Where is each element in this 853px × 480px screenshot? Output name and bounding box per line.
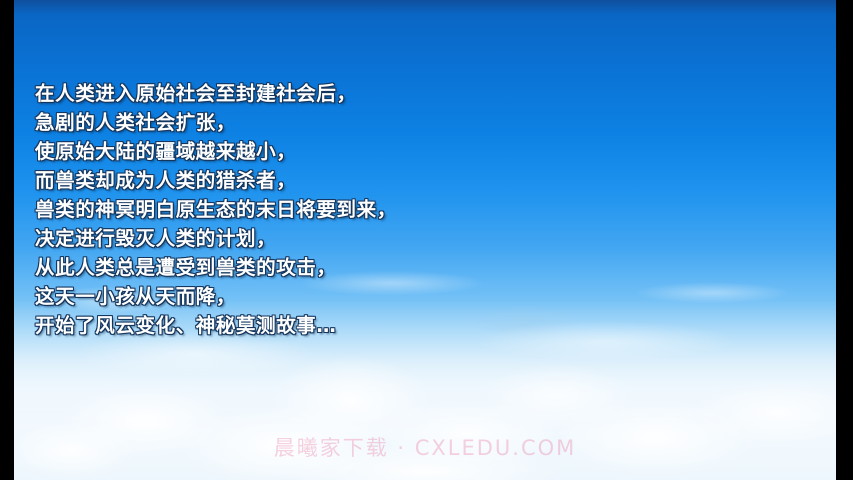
narration-line-1: 在人类进入原始社会至封建社会后， bbox=[35, 79, 675, 108]
narration-text-block: 在人类进入原始社会至封建社会后， 急剧的人类社会扩张， 使原始大陆的疆域越来越小… bbox=[35, 79, 675, 340]
narration-line-5: 兽类的神冥明白原生态的末日将要到来， bbox=[35, 195, 675, 224]
narration-line-7: 从此人类总是遭受到兽类的攻击， bbox=[35, 253, 675, 282]
narration-line-9: 开始了风云变化、神秘莫测故事… bbox=[35, 311, 675, 340]
video-stage[interactable]: 在人类进入原始社会至封建社会后， 急剧的人类社会扩张， 使原始大陆的疆域越来越小… bbox=[14, 0, 836, 480]
letterbox-bar-left bbox=[0, 0, 14, 480]
narration-line-2: 急剧的人类社会扩张， bbox=[35, 108, 675, 137]
narration-line-4: 而兽类却成为人类的猎杀者， bbox=[35, 166, 675, 195]
narration-line-6: 决定进行毁灭人类的计划， bbox=[35, 224, 675, 253]
letterbox-bar-right bbox=[836, 0, 853, 480]
narration-line-8: 这天一小孩从天而降， bbox=[35, 282, 675, 311]
narration-line-3: 使原始大陆的疆域越来越小， bbox=[35, 137, 675, 166]
video-frame-screen: 在人类进入原始社会至封建社会后， 急剧的人类社会扩张， 使原始大陆的疆域越来越小… bbox=[0, 0, 853, 480]
